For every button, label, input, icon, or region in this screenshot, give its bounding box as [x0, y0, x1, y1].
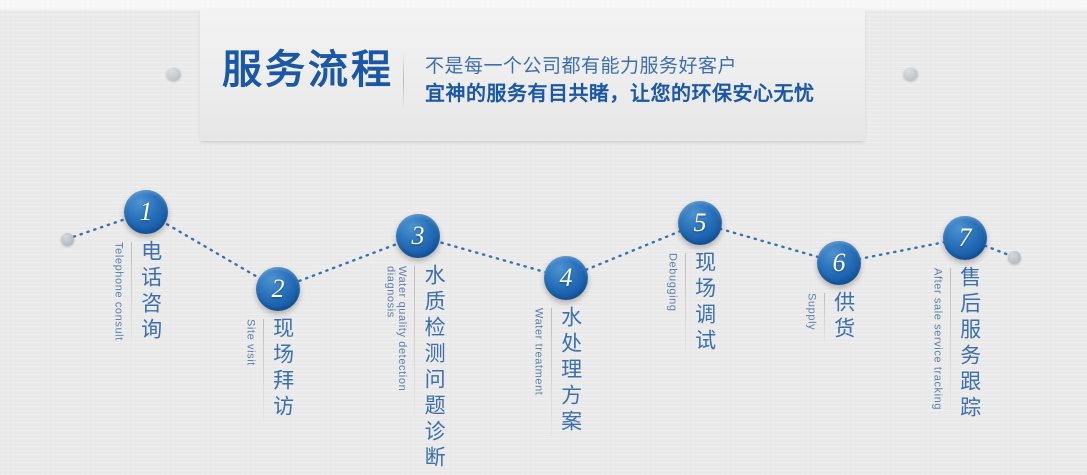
step-label-cn-4: 水处理方案: [559, 306, 581, 436]
subtitle-line-1: 不是每一个公司都有能力服务好客户: [425, 54, 865, 80]
service-process-banner: 服务流程 不是每一个公司都有能力服务好客户 宜神的服务有目共睹，让您的环保安心无…: [0, 0, 1087, 475]
step-node-2[interactable]: 2: [256, 267, 300, 311]
step-label-cn-6: 供货: [832, 291, 854, 343]
page-title: 服务流程: [222, 50, 394, 90]
step-node-1[interactable]: 1: [124, 190, 168, 234]
decorative-dot-right: [903, 66, 918, 81]
step-label-3: 水质检测问题诊断Water quality detection diagnosi…: [384, 264, 444, 416]
header-subtitle: 不是每一个公司都有能力服务好客户 宜神的服务有目共睹，让您的环保安心无忧: [425, 54, 865, 108]
flow-endcap-start: [61, 233, 74, 246]
step-label-en-4: Water treatment: [532, 308, 544, 395]
step-node-5[interactable]: 5: [678, 201, 722, 245]
step-label-en-5: Debugging: [666, 253, 678, 312]
step-label-4: 水处理方案Water treatment: [532, 306, 581, 436]
decorative-dot-left: [166, 66, 181, 81]
step-label-divider-6: [824, 293, 825, 343]
step-label-en-3: Water quality detection diagnosis: [384, 266, 407, 416]
step-label-en-1: Telephone consult: [112, 242, 124, 341]
step-label-cn-7: 售后服务跟踪: [958, 266, 980, 370]
step-label-cn-5: 现场调试: [693, 251, 715, 355]
step-label-5: 现场调试Debugging: [666, 251, 715, 355]
step-label-divider-3: [414, 266, 415, 416]
step-label-divider-4: [551, 308, 552, 436]
step-label-cn-2: 现场拜访: [271, 317, 293, 421]
step-label-en-7: After sale service tracking: [931, 268, 943, 410]
step-label-7: 售后服务跟踪After sale service tracking: [931, 266, 980, 410]
subtitle-line-2: 宜神的服务有目共睹，让您的环保安心无忧: [425, 80, 865, 108]
step-label-divider-1: [131, 242, 132, 344]
step-node-3[interactable]: 3: [396, 214, 440, 258]
step-node-4[interactable]: 4: [544, 256, 588, 300]
step-label-cn-3: 水质检测问题诊断: [422, 264, 444, 368]
step-label-1: 电话咨询Telephone consult: [112, 240, 161, 344]
step-label-divider-7: [950, 268, 951, 410]
step-label-2: 现场拜访Site visit: [244, 317, 293, 421]
step-node-6[interactable]: 6: [817, 241, 861, 285]
header-divider: [403, 54, 404, 108]
step-label-en-2: Site visit: [244, 319, 256, 366]
step-label-divider-2: [263, 319, 264, 421]
step-label-cn-1: 电话咨询: [139, 240, 161, 344]
step-label-divider-5: [685, 253, 686, 355]
step-label-en-6: Supply: [805, 293, 817, 330]
step-label-6: 供货Supply: [805, 291, 854, 343]
step-node-7[interactable]: 7: [943, 216, 987, 260]
flow-endcap-end: [1008, 251, 1021, 264]
